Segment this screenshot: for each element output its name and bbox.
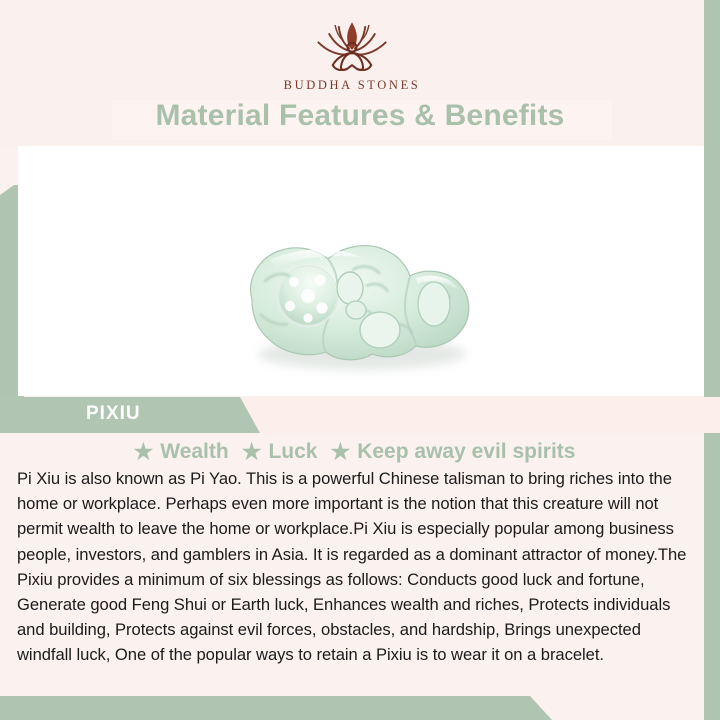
star-icon: ★ [134,441,154,463]
benefit-item: ★ Keep away evil spirits [321,440,579,464]
brand-name: BUDDHA STONES [284,78,421,93]
star-icon: ★ [242,441,262,463]
benefits-row: ★ Wealth ★ Luck ★ Keep away evil spirits [0,437,704,467]
benefit-item: ★ Wealth [125,440,233,464]
benefit-item: ★ Luck [233,440,322,464]
lotus-meditation-logo-icon [292,16,412,76]
product-description: Pi Xiu is also known as Pi Yao. This is … [17,466,697,668]
benefit-label: Luck [268,440,317,464]
product-label: PIXIU [86,403,141,425]
brand-logo: BUDDHA STONES [0,16,704,93]
product-info-card: BUDDHA STONES Material Features & Benefi… [0,0,720,720]
jade-pixiu-carving-image [220,226,500,386]
decorative-border-bottom [0,696,720,720]
benefit-label: Wealth [160,440,228,464]
page-title: Material Features & Benefits [0,99,720,133]
star-icon: ★ [330,441,350,463]
benefit-label: Keep away evil spirits [357,440,575,464]
